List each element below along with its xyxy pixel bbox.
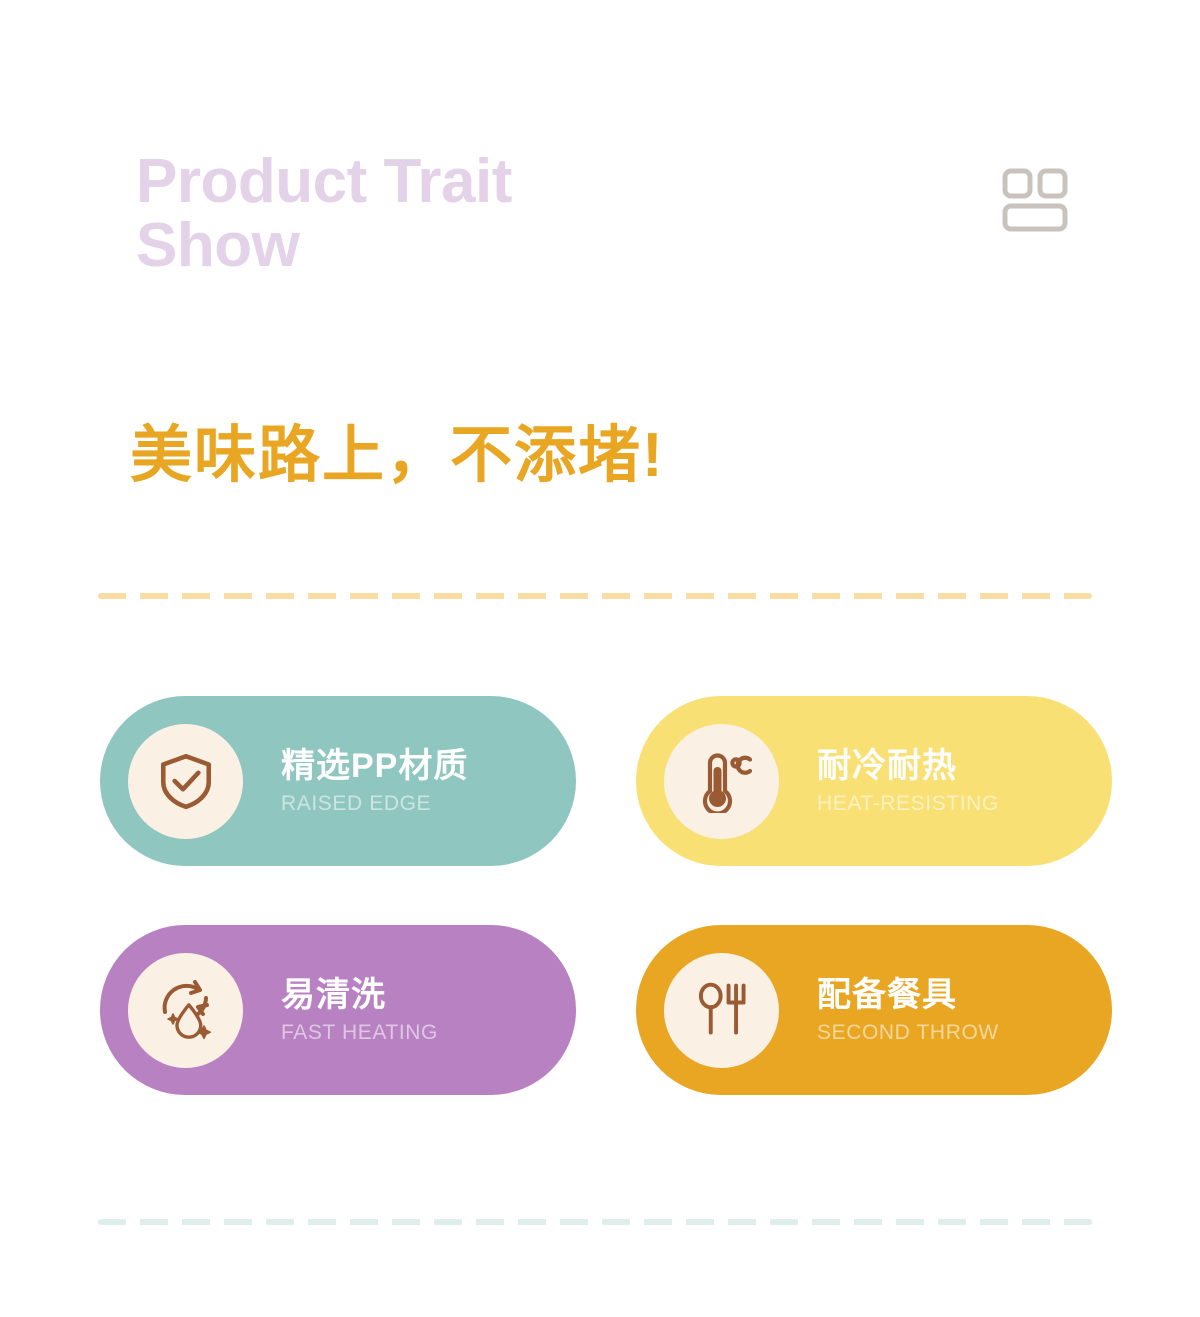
feature-card-raised-edge[interactable]: 精选PP材质 RAISED EDGE xyxy=(100,696,576,866)
card-text: 耐冷耐热 HEAT-RESISTING xyxy=(817,746,999,816)
water-drop-refresh-icon xyxy=(154,978,218,1042)
divider-top xyxy=(98,593,1092,599)
card-title-cn: 配备餐具 xyxy=(817,975,999,1015)
page-header: Product TraitShow xyxy=(136,150,1096,279)
card-title-en: HEAT-RESISTING xyxy=(817,792,999,816)
feature-card-heat-resisting[interactable]: 耐冷耐热 HEAT-RESISTING xyxy=(636,696,1112,866)
page-title: Product TraitShow xyxy=(136,150,696,279)
shield-check-icon xyxy=(155,750,217,812)
feature-card-second-throw[interactable]: 配备餐具 SECOND THROW xyxy=(636,925,1112,1095)
thermometer-celsius-icon xyxy=(690,749,754,813)
spoon-fork-icon xyxy=(692,980,752,1040)
feature-card-fast-heating[interactable]: 易清洗 FAST HEATING xyxy=(100,925,576,1095)
layout-grid-icon[interactable] xyxy=(1002,168,1068,232)
icon-badge xyxy=(664,953,779,1068)
card-title-cn: 耐冷耐热 xyxy=(817,746,999,786)
page-subtitle: 美味路上，不添堵! xyxy=(130,404,665,494)
card-title-en: SECOND THROW xyxy=(817,1021,999,1045)
divider-bottom xyxy=(98,1219,1092,1225)
card-text: 易清洗 FAST HEATING xyxy=(281,975,438,1045)
icon-badge xyxy=(664,724,779,839)
card-title-cn: 精选PP材质 xyxy=(281,746,468,786)
card-text: 配备餐具 SECOND THROW xyxy=(817,975,999,1045)
icon-badge xyxy=(128,953,243,1068)
card-text: 精选PP材质 RAISED EDGE xyxy=(281,746,468,816)
card-title-cn: 易清洗 xyxy=(281,975,438,1015)
icon-badge xyxy=(128,724,243,839)
product-trait-page: Product TraitShow 美味路上，不添堵! xyxy=(0,0,1200,1317)
card-title-en: FAST HEATING xyxy=(281,1021,438,1045)
card-title-en: RAISED EDGE xyxy=(281,792,468,816)
feature-card-grid: 精选PP材质 RAISED EDGE 耐冷耐热 HEA xyxy=(100,696,1112,1095)
